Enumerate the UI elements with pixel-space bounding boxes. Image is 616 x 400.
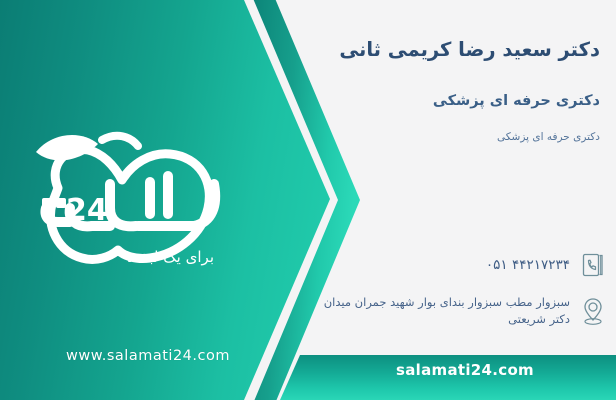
map-pin-icon	[580, 296, 606, 326]
address-row[interactable]: سبزوار مطب سبزوار بندای بوار شهید جمران …	[306, 294, 606, 329]
logo-artwork: 24 برای یک لبخند	[18, 110, 240, 280]
logo: 24 برای یک لبخند www.salamati24.com	[18, 110, 240, 280]
footer-website[interactable]: salamati24.com	[340, 361, 590, 379]
logo-tagline: برای یک لبخند	[127, 248, 214, 266]
doctor-specialty-secondary: دکتری حرفه ای پزشکی	[318, 131, 600, 143]
phone-number: ۴۴۲۱۷۲۳۴ ۰۵۱	[310, 255, 570, 275]
phone-row[interactable]: ۴۴۲۱۷۲۳۴ ۰۵۱	[310, 250, 606, 280]
phone-book-icon	[580, 250, 606, 280]
doctor-name: دکتر سعید رضا کریمی ثانی	[318, 36, 600, 63]
logo-24-text: 24	[66, 193, 108, 228]
doctor-specialty: دکتری حرفه ای پزشکی	[318, 93, 600, 109]
stem-icon	[102, 136, 138, 146]
leaf-icon	[36, 135, 98, 160]
card-content: دکتر سعید رضا کریمی ثانی دکتری حرفه ای پ…	[300, 0, 616, 400]
address-text: سبزوار مطب سبزوار بندای بوار شهید جمران …	[306, 294, 570, 329]
logo-website: www.salamati24.com	[48, 348, 248, 364]
business-card: 24 برای یک لبخند www.salamati24.com دکتر…	[0, 0, 616, 400]
